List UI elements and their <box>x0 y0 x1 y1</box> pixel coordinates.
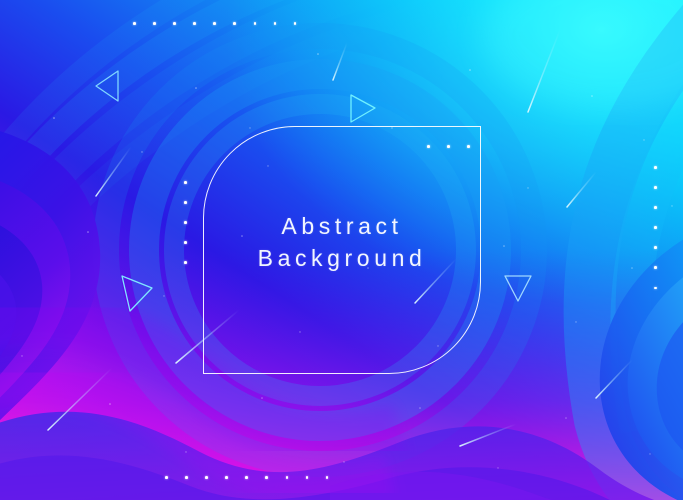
triangle-upper-mid <box>351 95 375 122</box>
dot <box>213 22 216 25</box>
dot <box>254 22 257 25</box>
dot <box>184 181 187 184</box>
dots-frame <box>427 145 487 148</box>
dot <box>185 476 188 479</box>
triangle-right-down <box>505 276 531 301</box>
streak-6 <box>48 368 112 430</box>
dot <box>133 22 136 25</box>
triangle-lower-left <box>122 276 152 311</box>
dot <box>173 22 176 25</box>
dot <box>294 22 297 25</box>
streak-8 <box>596 360 632 398</box>
dot <box>654 266 657 269</box>
dot <box>654 287 657 290</box>
dot <box>184 241 187 244</box>
dot <box>306 476 309 479</box>
dot <box>193 22 196 25</box>
dot <box>265 476 268 479</box>
title-line-2: Background <box>203 242 481 274</box>
streak-9 <box>567 172 596 207</box>
dot <box>205 476 208 479</box>
dot <box>654 246 657 249</box>
streak-4 <box>176 310 239 363</box>
dot <box>447 145 450 148</box>
dot <box>427 145 430 148</box>
dot <box>654 226 657 229</box>
dot <box>467 145 470 148</box>
dot <box>184 261 187 264</box>
dot <box>326 476 329 479</box>
dots-top <box>133 22 296 25</box>
dots-bottom <box>165 476 328 479</box>
dot <box>286 476 289 479</box>
title-line-1: Abstract <box>281 213 402 239</box>
streak-7 <box>460 424 516 446</box>
dot <box>165 476 168 479</box>
streak-1 <box>528 30 560 112</box>
triangle-left-small <box>96 71 118 101</box>
abstract-background-canvas: Abstract Background <box>0 0 683 500</box>
page-title: Abstract Background <box>203 210 481 274</box>
streak-3 <box>96 147 131 196</box>
dot <box>233 22 236 25</box>
dot <box>245 476 248 479</box>
dot <box>654 206 657 209</box>
dot <box>225 476 228 479</box>
triangle-outlines <box>96 71 531 311</box>
dot <box>184 221 187 224</box>
streak-2 <box>333 43 347 80</box>
dot <box>274 22 277 25</box>
dot <box>184 201 187 204</box>
dots-left <box>184 181 187 264</box>
dot <box>654 186 657 189</box>
dot <box>153 22 156 25</box>
dot <box>654 166 657 169</box>
dots-right <box>654 166 657 289</box>
